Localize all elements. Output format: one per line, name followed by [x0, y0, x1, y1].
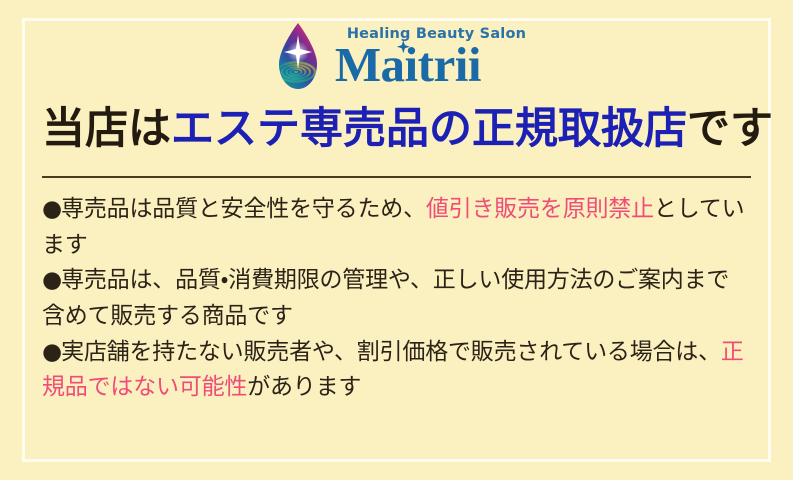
page-title-part3: です [687, 106, 773, 153]
promo-banner: Healing Beauty Salon Maitrii 当店はエステ専売品の正… [0, 0, 793, 480]
bullet-marker: ● [42, 196, 61, 222]
notes-list: ●専売品は品質と安全性を守るため、値引き販売を原則禁止としています ●専売品は、… [42, 192, 751, 406]
title-divider [42, 176, 751, 178]
note-segment: 専売品は品質と安全性を守るため、 [61, 196, 426, 222]
bullet-marker: ● [42, 339, 61, 365]
note-segment: 実店舗を持たない販売者や、割引価格で販売されている場合は、 [61, 339, 721, 365]
list-item: ●実店舗を持たない販売者や、割引価格で販売されている場合は、正規品ではない可能性… [42, 335, 751, 406]
list-item: ●専売品は品質と安全性を守るため、値引き販売を原則禁止としています [42, 192, 751, 263]
brand-wordmark: Healing Beauty Salon Maitrii [335, 27, 526, 88]
brand-logo: Healing Beauty Salon Maitrii [42, 0, 751, 92]
note-segment: があります [247, 374, 361, 400]
page-title-part1: 当店は [42, 106, 171, 153]
note-segment-emphasis: 値引き販売を原則禁止 [426, 196, 654, 222]
bullet-marker: ● [42, 267, 61, 293]
banner-content: Healing Beauty Salon Maitrii 当店はエステ専売品の正… [0, 0, 793, 480]
water-droplet-ripple-star-icon [267, 22, 329, 92]
page-title-part2: エステ専売品の正規取扱店 [171, 106, 687, 153]
brand-name-text: Maitrii [335, 37, 481, 92]
page-title: 当店はエステ専売品の正規取扱店です [42, 106, 751, 154]
brand-name: Maitrii [335, 42, 481, 87]
list-item: ●専売品は、品質・消費期限の管理や、正しい使用方法のご案内まで含めて販売する商品… [42, 263, 751, 334]
note-segment: 専売品は、品質・消費期限の管理や、正しい使用方法のご案内まで含めて販売する商品で… [42, 267, 729, 329]
